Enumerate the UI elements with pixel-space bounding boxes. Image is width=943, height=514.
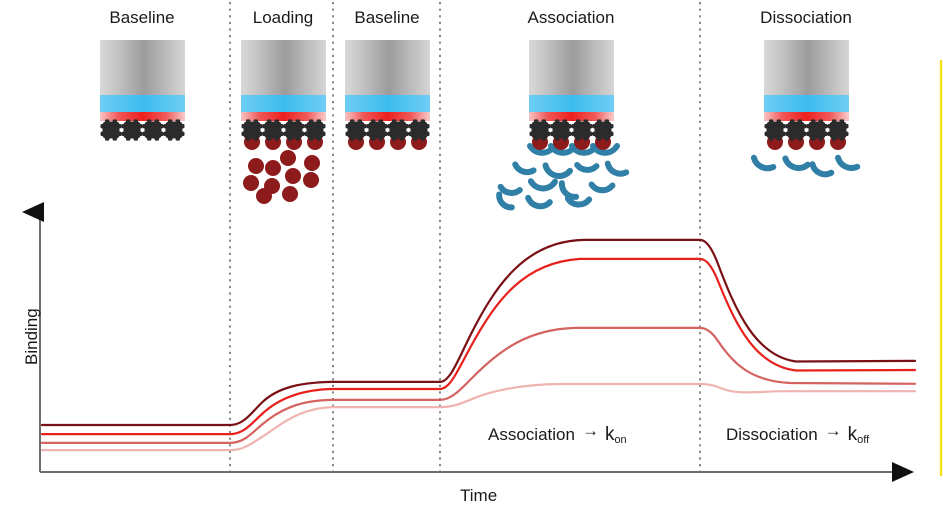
sensor-cyan-layer <box>345 95 430 112</box>
sensor-association <box>497 40 627 208</box>
free-antibody-group <box>754 153 857 176</box>
sensor-red-layer <box>241 112 326 121</box>
kon-subscript: on <box>614 434 626 446</box>
sensor-cyan-layer <box>764 95 849 112</box>
sensor-loading <box>241 40 326 204</box>
sensor-baseline-2 <box>345 40 430 150</box>
koff-symbol: k <box>848 424 858 446</box>
phase-title-baseline-2: Baseline <box>327 8 447 28</box>
curve-2 <box>42 259 915 434</box>
y-axis-label: Binding <box>22 308 42 365</box>
sensor-dissociation <box>754 40 857 175</box>
dissociation-rate-annotation: Dissociation → koff <box>726 424 869 446</box>
sensor-red-layer <box>529 112 614 121</box>
ligand-group <box>101 119 185 140</box>
figure-canvas: Baseline Loading Baseline Association Di… <box>0 0 943 514</box>
sensor-cyan-layer <box>100 95 185 112</box>
phase-title-dissociation: Dissociation <box>736 8 876 28</box>
sensor-red-layer <box>100 112 185 121</box>
sensor-red-layer <box>345 112 430 121</box>
ligand-group <box>346 119 430 140</box>
right-arrow-icon: → <box>582 421 598 441</box>
free-antibody-group <box>497 159 627 207</box>
sensor-red-layer <box>764 112 849 121</box>
kon-symbol: k <box>605 424 615 446</box>
ligand-group <box>242 119 326 140</box>
association-note-text: Association <box>488 425 575 445</box>
koff-subscript: off <box>857 434 869 446</box>
phase-title-loading: Loading <box>223 8 343 28</box>
phase-title-association: Association <box>501 8 641 28</box>
ligand-group <box>530 119 614 140</box>
phase-title-baseline-1: Baseline <box>82 8 202 28</box>
sensor-baseline-1 <box>100 40 185 141</box>
dissociation-note-text: Dissociation <box>726 425 818 445</box>
ligand-group <box>765 119 849 140</box>
sensor-cyan-layer <box>529 95 614 112</box>
x-axis-label: Time <box>460 486 497 506</box>
right-arrow-icon: → <box>825 421 841 441</box>
sensor-cyan-layer <box>241 95 326 112</box>
binding-curves <box>42 240 915 450</box>
association-rate-annotation: Association → kon <box>488 424 627 446</box>
free-analyte-group <box>243 150 320 204</box>
